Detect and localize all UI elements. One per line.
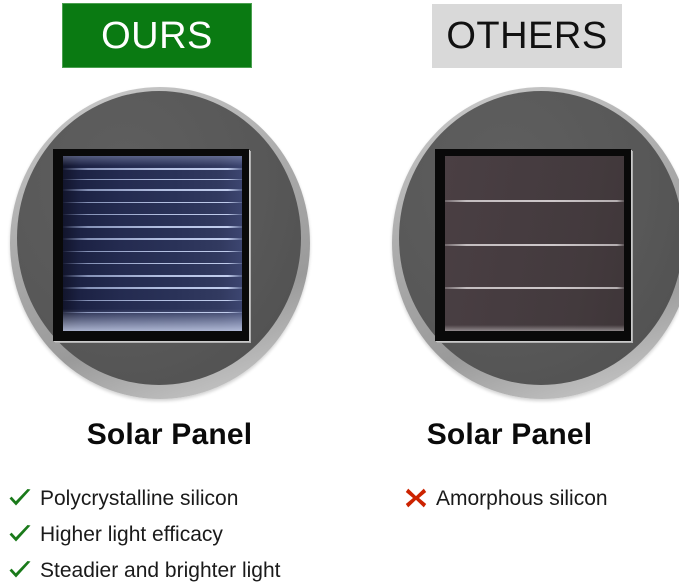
busbar-line <box>63 263 242 265</box>
amorphous-cell <box>445 156 624 331</box>
cell-top-sheen <box>63 156 242 166</box>
feature-label: Amorphous silicon <box>436 488 608 509</box>
ours-solar-panel-frame <box>53 149 249 341</box>
busbar-line <box>63 189 242 191</box>
cell-bottom-sheen <box>63 309 242 331</box>
busbar-line <box>63 251 242 253</box>
cell-divider-line <box>445 287 624 289</box>
cross-icon <box>402 486 430 510</box>
list-item: Polycrystalline silicon <box>6 480 339 516</box>
busbar-line <box>63 300 242 302</box>
check-icon <box>6 522 34 546</box>
comparison-column-ours: OURS <box>0 0 339 587</box>
busbar-line <box>63 226 242 228</box>
feature-label: Polycrystalline silicon <box>40 488 238 509</box>
list-item: Amorphous silicon <box>402 480 679 516</box>
list-item: Higher light efficacy <box>6 516 339 552</box>
feature-label: Steadier and brighter light <box>40 560 281 581</box>
feature-label: Higher light efficacy <box>40 524 223 545</box>
comparison-infographic: OURS <box>0 0 679 587</box>
ours-lamp-disc <box>10 87 310 399</box>
others-solar-panel-surface <box>445 156 624 331</box>
busbar-line <box>63 287 242 289</box>
check-icon <box>6 558 34 582</box>
others-caption: Solar Panel <box>340 418 679 452</box>
busbar-line <box>63 275 242 277</box>
others-solar-panel-frame <box>435 149 631 341</box>
cell-divider-line <box>445 200 624 202</box>
ours-badge: OURS <box>62 3 252 68</box>
others-badge-label: OTHERS <box>446 17 607 55</box>
cell-divider-line <box>445 244 624 246</box>
ours-badge-label: OURS <box>101 17 213 55</box>
busbar-line <box>63 238 242 240</box>
polycrystalline-cell <box>63 156 242 331</box>
busbar-line <box>63 202 242 204</box>
busbar-line <box>63 168 242 170</box>
ours-feature-list: Polycrystalline silicon Higher light eff… <box>6 480 339 588</box>
ours-solar-panel-surface <box>63 156 242 331</box>
cell-bottom-sheen <box>445 325 624 331</box>
others-feature-list: Amorphous silicon <box>402 480 679 516</box>
comparison-column-others: OTHERS Solar Panel <box>340 0 679 587</box>
others-lamp-disc <box>392 87 679 399</box>
check-icon <box>6 486 34 510</box>
busbar-line <box>63 179 242 181</box>
busbar-line <box>63 214 242 216</box>
others-badge: OTHERS <box>432 4 622 68</box>
list-item: Steadier and brighter light <box>6 552 339 588</box>
ours-caption: Solar Panel <box>0 418 339 452</box>
